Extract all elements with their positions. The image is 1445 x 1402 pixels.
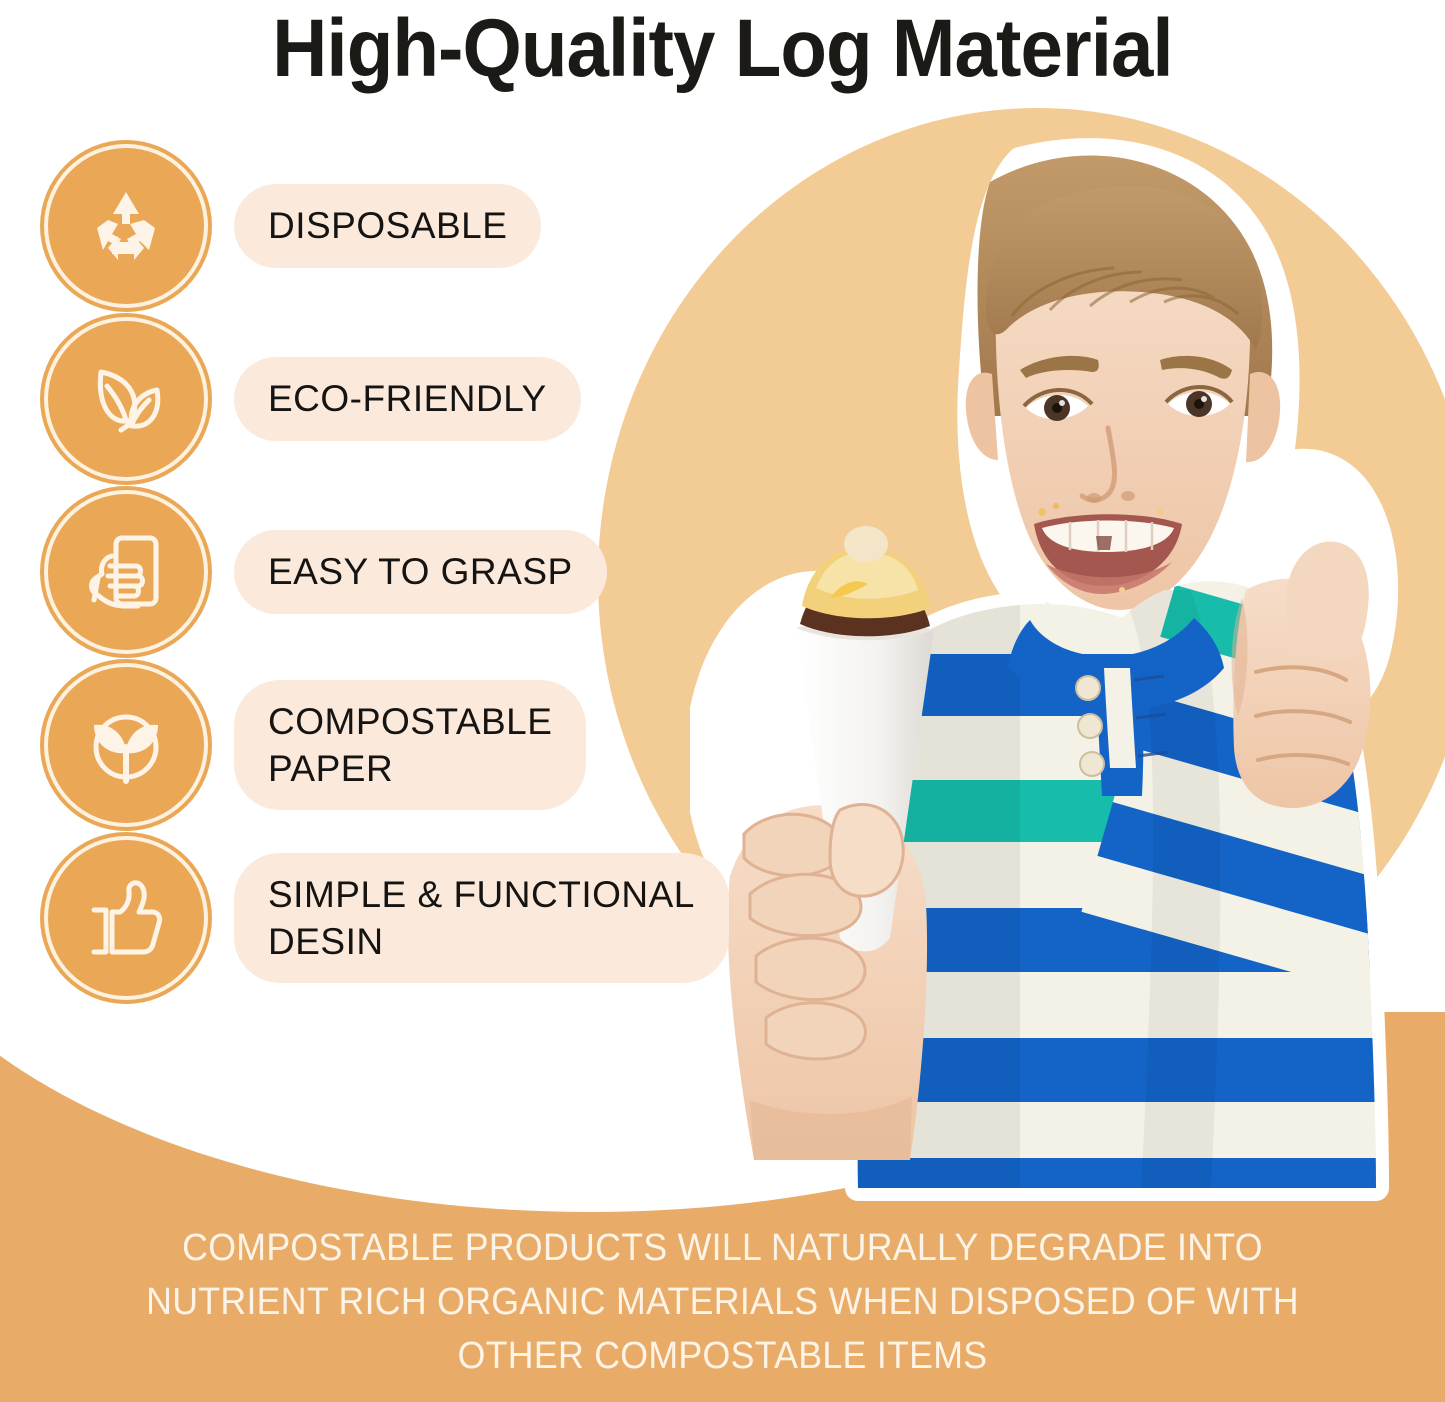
feature-icon-badge: [52, 498, 200, 646]
caption-line-2: NUTRIENT RICH ORGANIC MATERIALS WHEN DIS…: [43, 1276, 1401, 1330]
page-title: High-Quality Log Material: [51, 2, 1395, 96]
feature-item[interactable]: DISPOSABLE: [52, 152, 752, 300]
feature-label: COMPOSTABLE PAPER: [268, 698, 552, 793]
footer-caption: COMPOSTABLE PRODUCTS WILL NATURALLY DEGR…: [43, 1222, 1401, 1384]
feature-list: DISPOSABLE: [52, 152, 752, 992]
hand-grasp-cup-icon: [82, 528, 170, 616]
recycle-icon: [84, 184, 168, 268]
feature-label: ECO-FRIENDLY: [268, 375, 547, 422]
sprout-circle-icon: [82, 701, 170, 789]
child-photo: [690, 120, 1430, 1205]
feature-icon-badge: [52, 325, 200, 473]
feature-item[interactable]: SIMPLE & FUNCTIONAL DESIN: [52, 844, 752, 992]
feature-icon-badge: [52, 671, 200, 819]
feature-item[interactable]: EASY TO GRASP: [52, 498, 752, 646]
feature-icon-badge: [52, 844, 200, 992]
feature-label-pill: ECO-FRIENDLY: [234, 357, 581, 440]
product-infographic: High-Quality Log Material: [0, 0, 1445, 1402]
caption-line-1: COMPOSTABLE PRODUCTS WILL NATURALLY DEGR…: [43, 1222, 1401, 1276]
caption-line-3: OTHER COMPOSTABLE ITEMS: [43, 1330, 1401, 1384]
feature-label-pill: DISPOSABLE: [234, 184, 541, 267]
feature-label: SIMPLE & FUNCTIONAL DESIN: [268, 871, 695, 966]
leaves-icon: [83, 356, 169, 442]
feature-label: EASY TO GRASP: [268, 548, 573, 595]
feature-label-pill: COMPOSTABLE PAPER: [234, 680, 586, 811]
feature-label-pill: SIMPLE & FUNCTIONAL DESIN: [234, 853, 729, 984]
feature-item[interactable]: ECO-FRIENDLY: [52, 325, 752, 473]
feature-label-pill: EASY TO GRASP: [234, 530, 607, 613]
thumbs-up-icon: [82, 874, 170, 962]
feature-item[interactable]: COMPOSTABLE PAPER: [52, 671, 752, 819]
feature-icon-badge: [52, 152, 200, 300]
feature-label: DISPOSABLE: [268, 202, 507, 249]
